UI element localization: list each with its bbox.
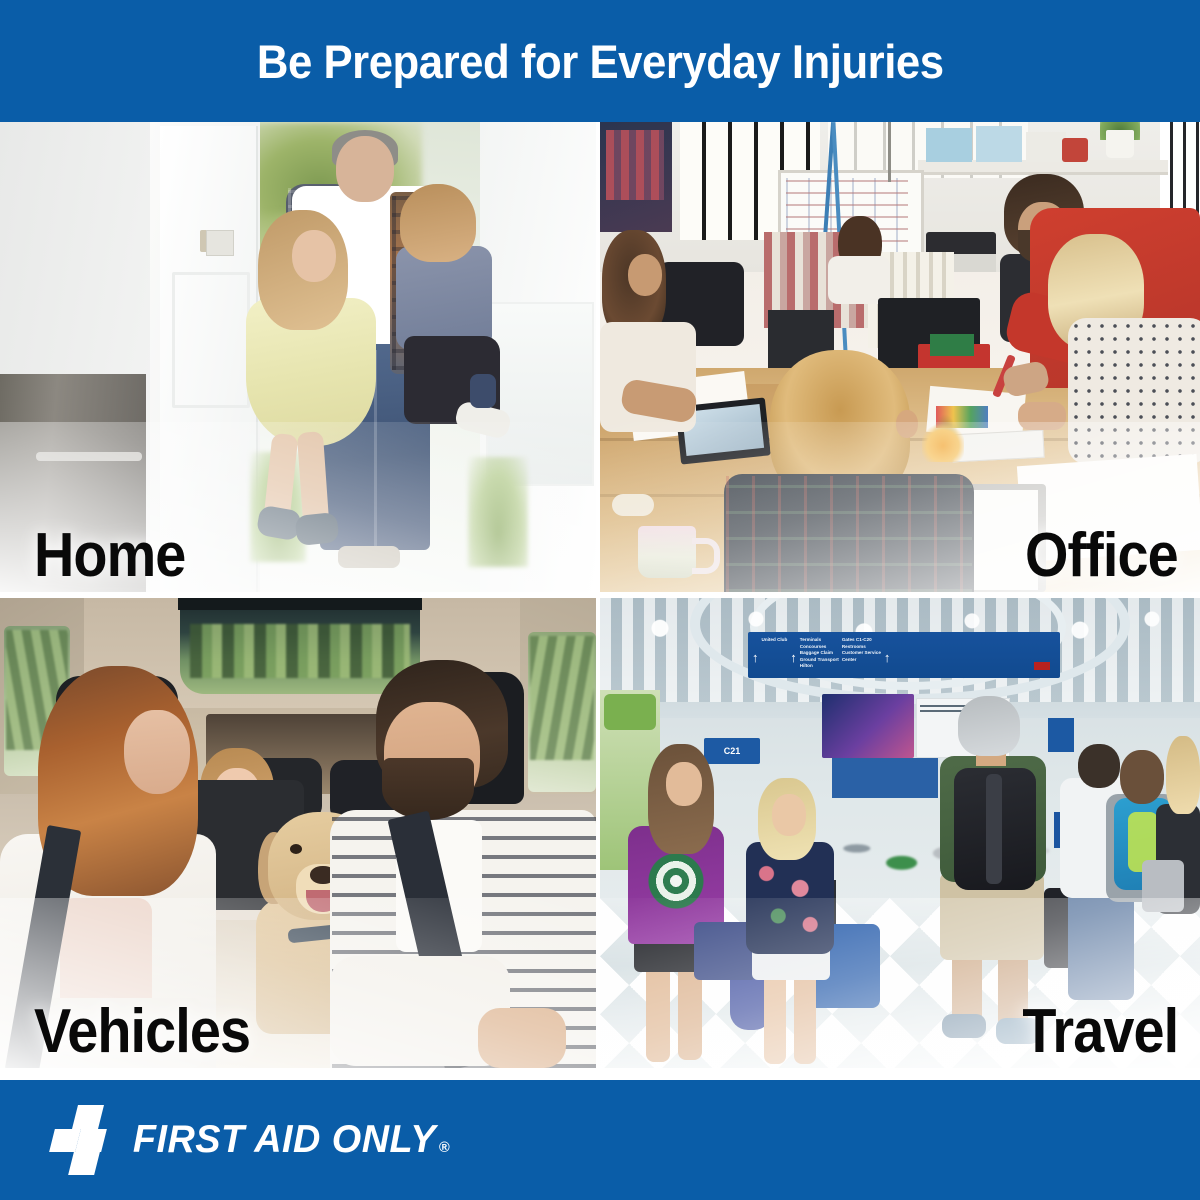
grid-cell-office[interactable]: Office	[600, 122, 1200, 592]
office-man-foreground-ear	[896, 410, 918, 438]
travel-sign-arrow-2: ↑	[790, 651, 797, 664]
travel-sign-arrow-1: ↑	[752, 651, 759, 664]
vehicle-sunroof-trees	[190, 624, 410, 678]
office-person-back-body	[828, 256, 890, 304]
travel-traveler-3-shoe-left	[942, 1014, 986, 1038]
office-pen-cup	[1062, 138, 1088, 162]
travel-traveler-2-leg-right	[794, 972, 816, 1064]
travel-sign-column-one: Terminals Concourses Baggage Claim Groun…	[800, 637, 839, 678]
travel-sign-customer-service: Customer Service	[842, 650, 881, 657]
home-girl-face	[292, 230, 336, 282]
office-green-box	[930, 334, 974, 356]
travel-traveler-5-hair	[1120, 750, 1164, 804]
office-flower	[922, 422, 964, 462]
travel-overhead-sign-text: ↑ United Club ↑ Terminals Concourses Bag…	[748, 632, 1060, 678]
travel-traveler-4-hair	[1078, 744, 1120, 788]
home-father-shoe	[338, 546, 400, 568]
travel-traveler-2-floral-print	[748, 846, 832, 952]
office-hand-2	[1018, 402, 1066, 430]
office-mug-handle	[692, 538, 720, 574]
first-aid-cross-icon	[52, 1105, 114, 1175]
travel-sign-united-club: United Club	[762, 637, 788, 644]
travel-traveler-6-hair	[1166, 736, 1200, 814]
office-woman-blonde-pattern	[1070, 320, 1200, 464]
brand-logo[interactable]: FIRST AID ONLY ®	[52, 1105, 455, 1175]
cell-label-office: Office	[1025, 523, 1178, 588]
home-appliance-handle	[36, 452, 142, 461]
office-mouse	[612, 494, 654, 516]
office-window-left-glass	[606, 130, 664, 200]
travel-traveler-6-handbag	[1142, 860, 1184, 912]
travel-sign-baggage-claim: Baggage Claim	[800, 650, 839, 657]
travel-gate-sign-label: C21	[704, 738, 760, 764]
grid-cell-home[interactable]: Home	[0, 122, 596, 592]
travel-traveler-3-backpack-strap	[986, 774, 1002, 884]
travel-digital-billboard	[822, 694, 914, 758]
home-boy-shoe-2	[470, 374, 496, 408]
travel-traveler-2-leg-left	[764, 972, 786, 1064]
footer-bar: FIRST AID ONLY ®	[0, 1080, 1200, 1200]
home-plant-2	[468, 457, 528, 567]
office-mug	[638, 526, 696, 578]
travel-kiosk-sign	[604, 694, 656, 730]
travel-sign-red-marker	[1034, 662, 1050, 670]
office-storage-box-1	[926, 128, 972, 162]
image-grid: Home	[0, 122, 1200, 1080]
page-title: Be Prepared for Everyday Injuries	[257, 34, 944, 89]
travel-sign-arrow-3: ↑	[884, 651, 891, 664]
home-wall-switch	[206, 230, 234, 256]
registered-trademark-icon: ®	[439, 1139, 450, 1156]
grid-cell-vehicles[interactable]: Vehicles	[0, 598, 596, 1068]
travel-sign-ground-transport: Ground Transport	[800, 657, 839, 664]
travel-traveler-1-print	[642, 848, 710, 914]
travel-sign-center: Center	[842, 657, 881, 664]
home-door-panel	[172, 272, 250, 408]
office-woman-left-face	[628, 254, 662, 296]
travel-sign-column-two: Gates C1-C20 Restrooms Customer Service …	[842, 637, 881, 678]
office-storage-box-3	[1026, 132, 1066, 162]
office-shelf-planter	[1106, 130, 1134, 158]
vehicle-woman-face	[124, 710, 190, 794]
office-shelf	[918, 160, 1168, 175]
vehicle-sunroof-edge	[178, 598, 422, 610]
office-man-foreground-plaid	[726, 476, 972, 592]
travel-traveler-2-face	[772, 794, 806, 836]
grid-cell-travel[interactable]: ↑ United Club ↑ Terminals Concourses Bag…	[600, 598, 1200, 1068]
travel-traveler-1-face	[666, 762, 702, 806]
home-boy-hair	[400, 184, 476, 262]
office-cable-3	[888, 122, 891, 182]
header-banner: Be Prepared for Everyday Injuries	[0, 0, 1200, 122]
home-girl-shoe-right	[295, 512, 340, 546]
travel-sign-restrooms: Restrooms	[842, 644, 881, 651]
brand-wordmark: FIRST AID ONLY ®	[133, 1118, 450, 1162]
office-storage-box-2	[976, 126, 1022, 162]
cell-label-vehicles: Vehicles	[34, 999, 250, 1064]
travel-traveler-3-hair	[958, 696, 1020, 756]
cell-label-home: Home	[34, 523, 185, 588]
vehicle-dog-eye-left	[290, 844, 302, 854]
home-father-head	[336, 136, 394, 202]
travel-sign-concourses: Concourses	[800, 644, 839, 651]
travel-sign-terminals: Terminals	[800, 637, 839, 644]
travel-side-sign-2	[1048, 718, 1074, 752]
travel-traveler-1-leg-left	[646, 964, 670, 1062]
vehicle-window-right-trees	[530, 636, 594, 760]
travel-sign-united-club-col: United Club	[762, 637, 788, 678]
cell-label-travel: Travel	[1022, 999, 1178, 1064]
travel-sign-gates: Gates C1-C20	[842, 637, 881, 644]
vehicle-man-hand	[478, 1008, 566, 1068]
brand-name: FIRST AID ONLY	[133, 1118, 436, 1162]
poster: Be Prepared for Everyday Injuries	[0, 0, 1200, 1200]
travel-traveler-4-jeans	[1068, 890, 1134, 1000]
office-keyboard	[951, 430, 1044, 463]
travel-sign-hilton: Hilton	[800, 663, 839, 670]
